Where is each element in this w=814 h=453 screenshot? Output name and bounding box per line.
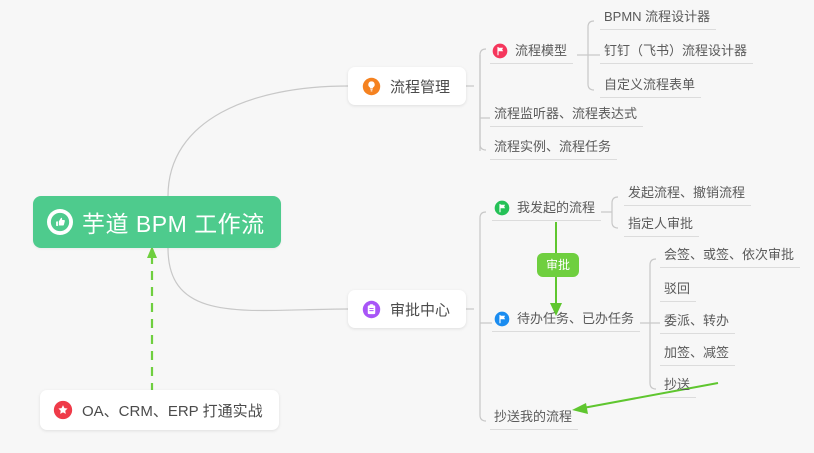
approval-tag: 审批 xyxy=(537,253,579,277)
leaf-label-add-remove-sign: 加签、减签 xyxy=(664,345,729,361)
connector-mine-trunk xyxy=(612,197,618,228)
connector-root-to-process-management xyxy=(168,86,348,196)
leaf-process-listener-expression[interactable]: 流程监听器、流程表达式 xyxy=(490,106,643,127)
leaf-label-reject: 驳回 xyxy=(664,281,690,297)
leaf-label-cc-my-processes: 抄送我的流程 xyxy=(494,409,572,425)
leaf-bpmn-designer[interactable]: BPMN 流程设计器 xyxy=(600,9,716,30)
leaf-label-process-instance-task: 流程实例、流程任务 xyxy=(494,139,611,155)
connector-ac-trunk xyxy=(480,212,486,421)
leaf-cc-my-processes[interactable]: 抄送我的流程 xyxy=(490,409,578,430)
star-icon xyxy=(52,399,74,421)
leaf-assigned-approver[interactable]: 指定人审批 xyxy=(624,216,699,237)
leaf-delegate-transfer[interactable]: 委派、转办 xyxy=(660,313,735,334)
clipboard-icon xyxy=(360,298,382,320)
leaf-add-remove-sign[interactable]: 加签、减签 xyxy=(660,345,735,366)
floating-note-oa-crm-erp[interactable]: OA、CRM、ERP 打通实战 xyxy=(40,390,279,430)
leaf-label-assigned-approver: 指定人审批 xyxy=(628,216,693,232)
thumbs-up-icon xyxy=(47,209,73,235)
branch-label-approval-center: 审批中心 xyxy=(390,299,450,320)
lightbulb-icon xyxy=(360,75,382,97)
leaf-label-custom-form: 自定义流程表单 xyxy=(604,77,695,93)
leaf-label-cc: 抄送 xyxy=(664,377,690,393)
flag-green-icon xyxy=(494,200,510,216)
leaf-label-process-listener-expression: 流程监听器、流程表达式 xyxy=(494,106,637,122)
node-label-todo-done-tasks: 待办任务、已办任务 xyxy=(517,311,634,327)
root-node[interactable]: 芋道 BPM 工作流 xyxy=(33,196,281,248)
leaf-cc[interactable]: 抄送 xyxy=(660,377,696,398)
leaf-label-delegate-transfer: 委派、转办 xyxy=(664,313,729,329)
branch-node-process-management[interactable]: 流程管理 xyxy=(348,67,466,105)
floating-note-label: OA、CRM、ERP 打通实战 xyxy=(82,400,263,421)
connector-model-trunk xyxy=(588,21,594,90)
mindmap-canvas: 芋道 BPM 工作流 OA、CRM、ERP 打通实战 流程管理 xyxy=(0,0,814,453)
leaf-reject[interactable]: 驳回 xyxy=(660,281,696,302)
node-label-my-started-processes: 我发起的流程 xyxy=(517,200,595,216)
leaf-label-dingtalk-designer: 钉钉（飞书）流程设计器 xyxy=(604,43,747,59)
leaf-start-cancel-process[interactable]: 发起流程、撤销流程 xyxy=(624,185,751,206)
leaf-countersign[interactable]: 会签、或签、依次审批 xyxy=(660,247,800,268)
root-label: 芋道 BPM 工作流 xyxy=(82,205,265,239)
flag-red-icon xyxy=(492,43,508,59)
node-todo-done-tasks[interactable]: 待办任务、已办任务 xyxy=(492,311,640,332)
connector-root-to-approval-center xyxy=(168,248,348,311)
leaf-dingtalk-designer[interactable]: 钉钉（飞书）流程设计器 xyxy=(600,43,753,64)
node-my-started-processes[interactable]: 我发起的流程 xyxy=(492,200,601,221)
leaf-process-instance-task[interactable]: 流程实例、流程任务 xyxy=(490,139,617,160)
leaf-label-bpmn-designer: BPMN 流程设计器 xyxy=(604,9,710,25)
leaf-label-countersign: 会签、或签、依次审批 xyxy=(664,247,794,263)
leaf-label-start-cancel-process: 发起流程、撤销流程 xyxy=(628,185,745,201)
flag-blue-icon xyxy=(494,311,510,327)
leaf-custom-form[interactable]: 自定义流程表单 xyxy=(600,77,701,98)
node-label-process-model: 流程模型 xyxy=(515,43,567,59)
node-process-model[interactable]: 流程模型 xyxy=(490,43,573,64)
approval-tag-label: 审批 xyxy=(546,258,570,272)
green-arrow-cc-link xyxy=(572,383,718,414)
branch-label-process-management: 流程管理 xyxy=(390,76,450,97)
connector-pm-trunk-shape xyxy=(480,49,486,150)
dashed-arrow-note-to-root xyxy=(147,246,157,392)
branch-node-approval-center[interactable]: 审批中心 xyxy=(348,290,466,328)
connector-todo-trunk xyxy=(650,259,656,389)
